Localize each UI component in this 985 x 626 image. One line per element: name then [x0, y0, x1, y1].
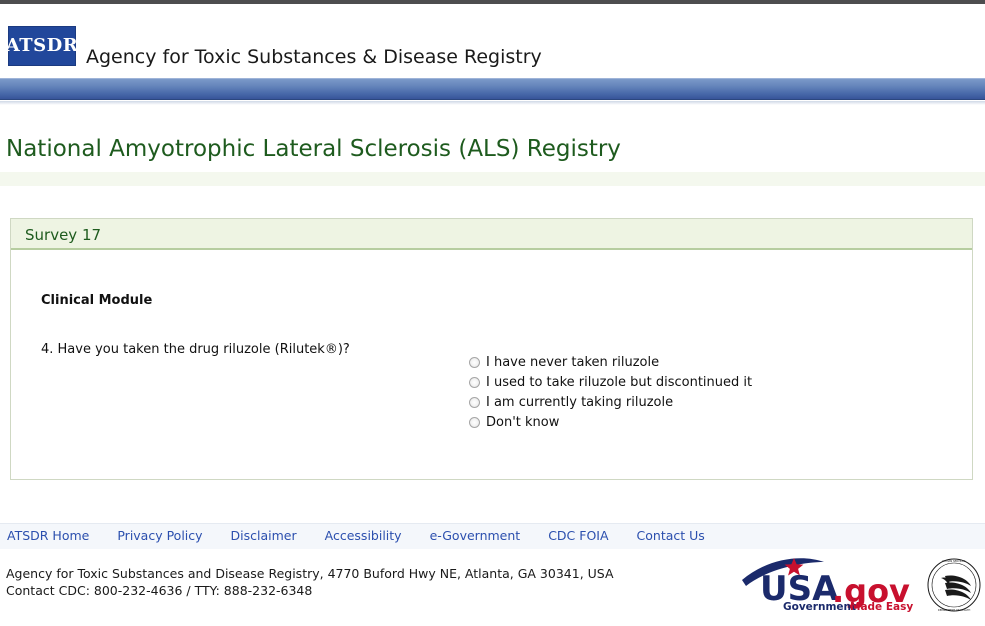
agency-title: Agency for Toxic Substances & Disease Re…: [86, 46, 542, 68]
footer-link-spacer: [203, 528, 231, 543]
radio-option-3[interactable]: I am currently taking riluzole: [469, 393, 909, 412]
usagov-logo[interactable]: USA .gov Government Made Easy: [740, 556, 930, 612]
footer-link-spacer: [89, 528, 117, 543]
survey-panel-title: Survey 17: [25, 226, 101, 244]
masthead: ATSDR Agency for Toxic Substances & Dise…: [0, 4, 985, 76]
footer-link-atsdr-home[interactable]: ATSDR Home: [7, 528, 89, 543]
radio-option-1[interactable]: I have never taken riluzole: [469, 353, 909, 372]
radio-option-label: I am currently taking riluzole: [486, 395, 673, 410]
module-title: Clinical Module: [41, 293, 152, 308]
radio-option-label: I have never taken riluzole: [486, 355, 659, 370]
footer-link-spacer: [609, 528, 637, 543]
atsdr-logo-text: ATSDR: [6, 37, 78, 55]
blue-navigation-bar: [0, 78, 985, 100]
footer-link-spacer: [520, 528, 548, 543]
footer-link-contact-us[interactable]: Contact Us: [637, 528, 705, 543]
svg-text:Made Easy: Made Easy: [850, 601, 913, 612]
svg-text:DEPARTMENT OF HEALTH: DEPARTMENT OF HEALTH: [938, 608, 971, 612]
svg-text:HUMAN SERVICES: HUMAN SERVICES: [942, 559, 966, 563]
footer-link-e-government[interactable]: e-Government: [430, 528, 521, 543]
survey-panel: Survey 17 Clinical Module 4. Have you ta…: [10, 218, 973, 480]
footer-link-cdc-foia[interactable]: CDC FOIA: [548, 528, 608, 543]
radio-option-4[interactable]: Don't know: [469, 413, 909, 432]
page-root: ATSDR Agency for Toxic Substances & Dise…: [0, 0, 985, 626]
atsdr-logo[interactable]: ATSDR: [8, 26, 76, 66]
svg-text:Government: Government: [783, 601, 856, 612]
blue-bar-shadow: [0, 101, 985, 105]
footer-link-privacy-policy[interactable]: Privacy Policy: [117, 528, 202, 543]
footer-links: ATSDR Home Privacy Policy Disclaimer Acc…: [7, 528, 705, 543]
footer-address-line-1: Agency for Toxic Substances and Disease …: [6, 565, 614, 582]
footer-link-disclaimer[interactable]: Disclaimer: [231, 528, 297, 543]
radio-icon[interactable]: [469, 377, 480, 388]
footer-address: Agency for Toxic Substances and Disease …: [6, 565, 614, 599]
page-title: National Amyotrophic Lateral Sclerosis (…: [6, 136, 621, 162]
radio-icon[interactable]: [469, 397, 480, 408]
radio-option-group: I have never taken riluzole I used to ta…: [469, 353, 909, 433]
radio-icon[interactable]: [469, 417, 480, 428]
radio-icon[interactable]: [469, 357, 480, 368]
footer-link-accessibility[interactable]: Accessibility: [325, 528, 402, 543]
footer-address-line-2: Contact CDC: 800-232-4636 / TTY: 888-232…: [6, 582, 614, 599]
radio-option-2[interactable]: I used to take riluzole but discontinued…: [469, 373, 909, 392]
question-text: 4. Have you taken the drug riluzole (Ril…: [41, 342, 350, 357]
footer-link-spacer: [297, 528, 325, 543]
title-underline-strip: [0, 172, 985, 186]
radio-option-label: Don't know: [486, 415, 559, 430]
survey-panel-header: Survey 17: [11, 219, 972, 250]
hhs-seal-icon: HUMAN SERVICES DEPARTMENT OF HEALTH: [925, 556, 983, 614]
footer-link-spacer: [402, 528, 430, 543]
radio-option-label: I used to take riluzole but discontinued…: [486, 375, 752, 390]
